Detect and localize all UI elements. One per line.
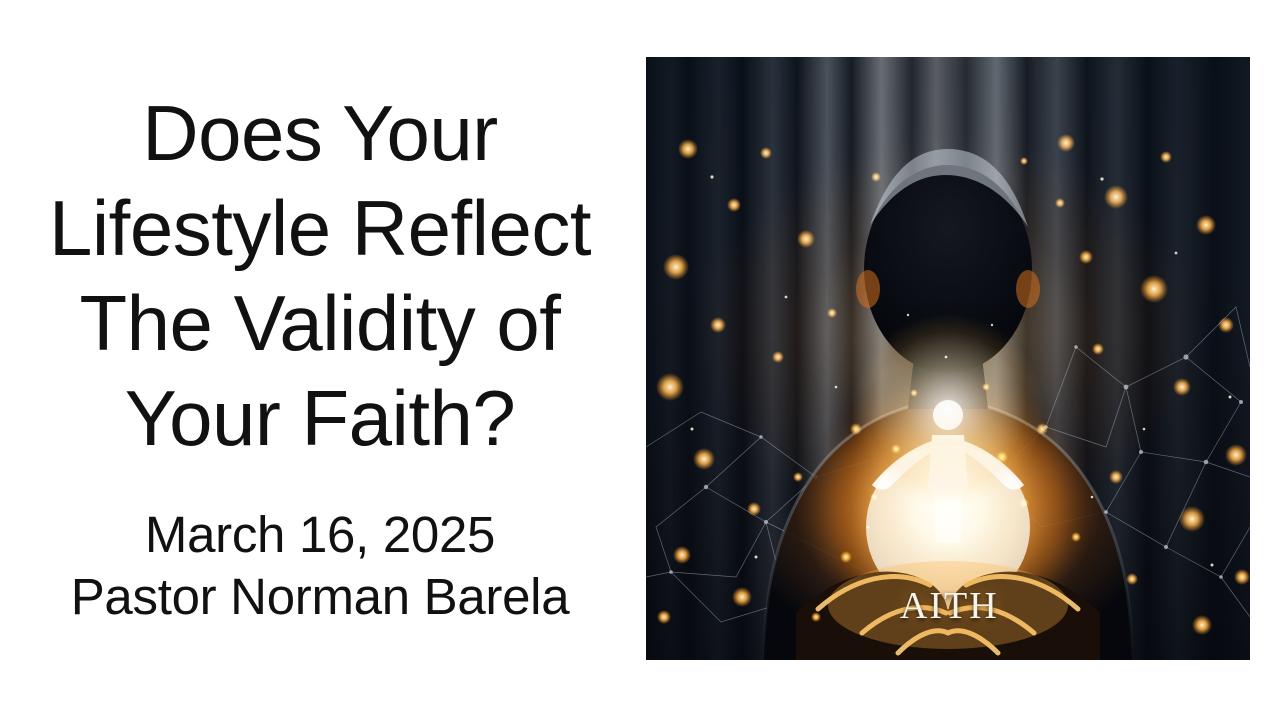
title-line-2: Lifestyle Reflect xyxy=(14,181,626,276)
title-line-4: Your Faith? xyxy=(14,371,626,466)
slide-subtitle-block: March 16, 2025 Pastor Norman Barela xyxy=(0,504,640,628)
slide-text-pane: Does Your Lifestyle Reflect The Validity… xyxy=(0,86,640,628)
slide-title: Does Your Lifestyle Reflect The Validity… xyxy=(0,86,640,466)
title-line-3: The Validity of xyxy=(14,276,626,371)
speaker-name: Pastor Norman Barela xyxy=(0,566,640,628)
presentation-slide: Does Your Lifestyle Reflect The Validity… xyxy=(0,0,1280,720)
bokeh-particles-icon xyxy=(646,57,1250,660)
sermon-date: March 16, 2025 xyxy=(0,504,640,566)
title-line-1: Does Your xyxy=(14,86,626,181)
faith-artwork-image: Faith xyxy=(646,57,1250,660)
